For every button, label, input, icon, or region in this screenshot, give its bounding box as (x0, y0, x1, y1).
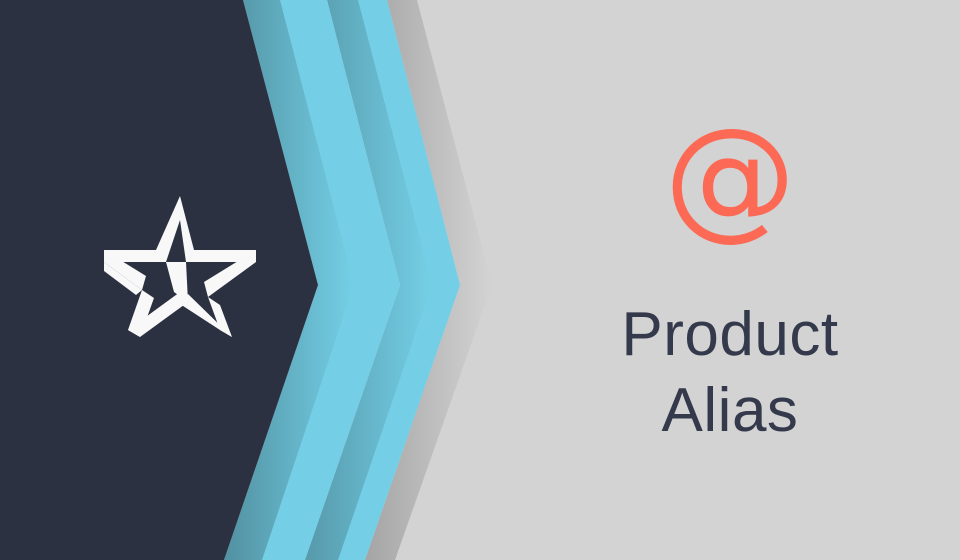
title-line-2: Alias (621, 373, 838, 449)
at-symbol-icon: @ (664, 111, 796, 243)
title-line-1: Product (621, 297, 838, 373)
right-content-panel: @ Product Alias (500, 0, 960, 560)
page-title: Product Alias (621, 297, 838, 449)
star-logo-svg (104, 192, 256, 337)
star-logo-icon (104, 192, 256, 337)
poster-canvas: @ Product Alias (0, 0, 960, 560)
